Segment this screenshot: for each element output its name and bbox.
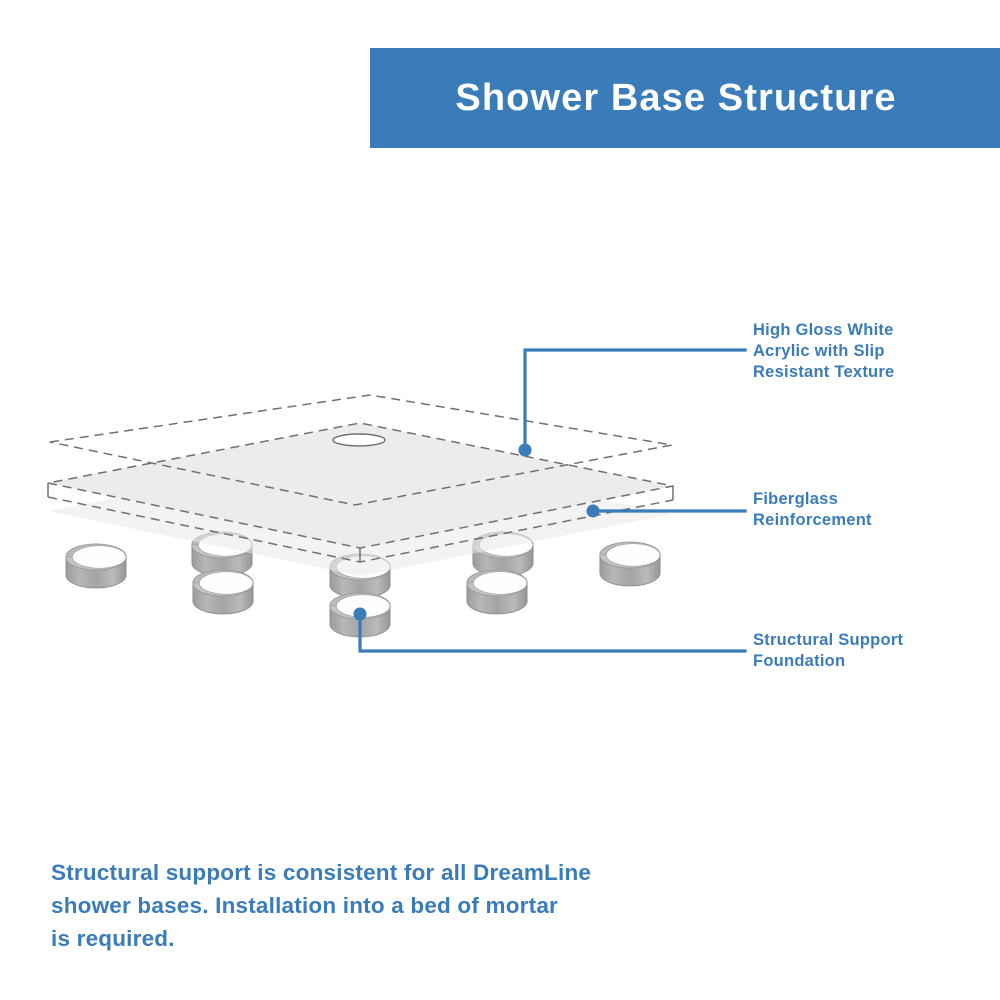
acrylic-plate	[50, 395, 672, 505]
diagram-canvas: Shower Base Structure	[0, 0, 1000, 1000]
callout-support-line-2: Foundation	[753, 651, 903, 672]
leader-dot-acrylic	[519, 444, 532, 457]
caption-line-1: Structural support is consistent for all…	[51, 856, 691, 889]
callout-fiberglass-line-1: Fiberglass	[753, 489, 872, 510]
callout-label-fiberglass: Fiberglass Reinforcement	[753, 489, 872, 531]
leader-dot-fiberglass	[587, 505, 600, 518]
support-ring	[192, 532, 252, 576]
caption-line-2: shower bases. Installation into a bed of…	[51, 889, 691, 922]
callout-acrylic-line-3: Resistant Texture	[753, 362, 895, 383]
callout-label-acrylic: High Gloss White Acrylic with Slip Resis…	[753, 320, 895, 383]
callout-label-support: Structural Support Foundation	[753, 630, 903, 672]
leader-lines	[354, 350, 746, 651]
support-rings-group	[66, 532, 660, 637]
support-ring	[193, 570, 253, 614]
support-ring	[66, 544, 126, 588]
title-banner: Shower Base Structure	[370, 48, 1000, 148]
fiberglass-slab	[48, 423, 673, 576]
callout-fiberglass-line-2: Reinforcement	[753, 510, 872, 531]
support-ring	[600, 542, 660, 586]
leader-dot-support	[354, 608, 367, 621]
page-title: Shower Base Structure	[455, 79, 896, 117]
callout-acrylic-line-2: Acrylic with Slip	[753, 341, 895, 362]
callout-acrylic-line-1: High Gloss White	[753, 320, 895, 341]
support-ring-front	[330, 593, 390, 637]
caption-line-3: is required.	[51, 922, 691, 955]
callout-support-line-1: Structural Support	[753, 630, 903, 651]
footer-caption: Structural support is consistent for all…	[51, 856, 691, 955]
support-ring	[330, 554, 390, 598]
support-ring	[473, 532, 533, 576]
drain-opening	[333, 434, 385, 446]
support-ring	[467, 570, 527, 614]
